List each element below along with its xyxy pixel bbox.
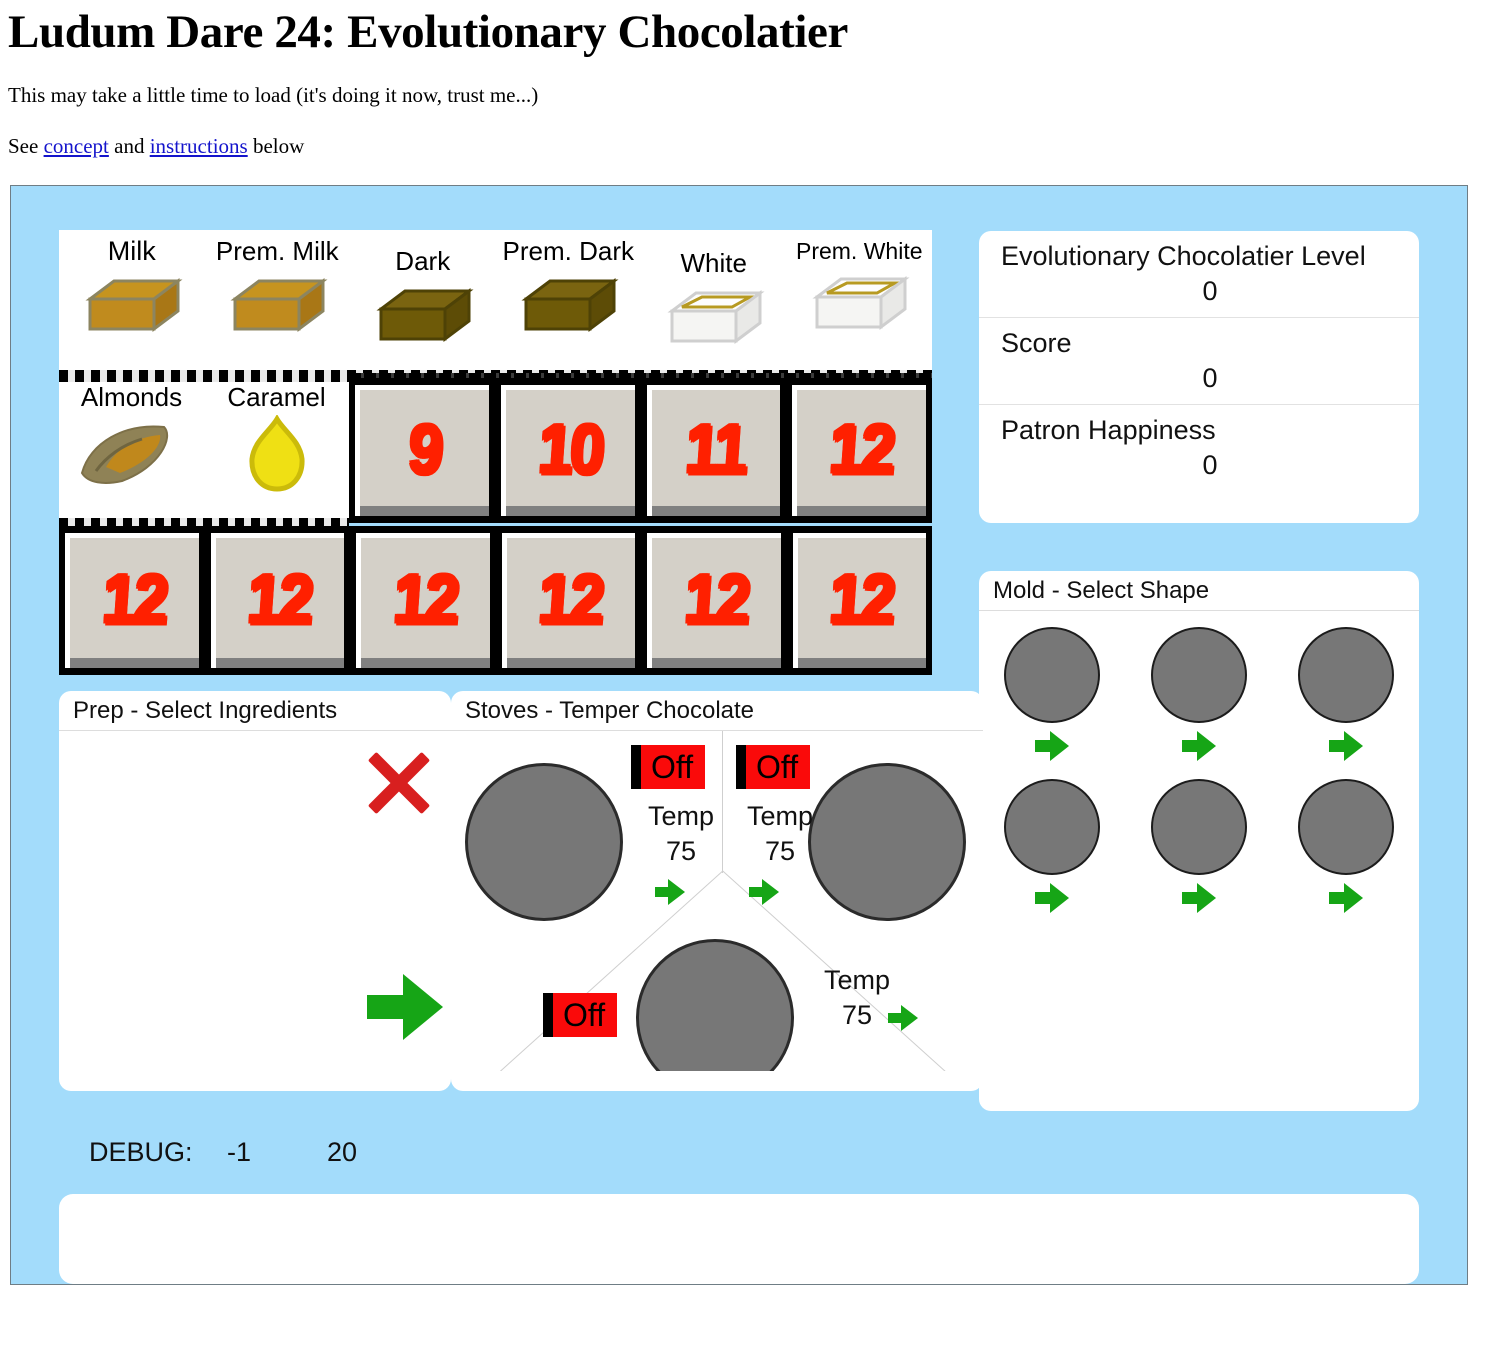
instructions-link[interactable]: instructions <box>150 134 248 158</box>
stove-temp-readout-1: Temp 75 <box>633 799 729 868</box>
stove-increase-temp-1[interactable] <box>655 879 685 910</box>
x-clear-icon[interactable] <box>363 747 435 819</box>
prep-confirm-button[interactable] <box>367 974 443 1045</box>
chocolate-tile[interactable]: 12 <box>356 533 490 668</box>
stove-power-label: Off <box>746 745 810 789</box>
chocolate-tile[interactable]: 12 <box>211 533 345 668</box>
chocolate-option-prem-dark[interactable]: Prem. Dark <box>496 230 642 375</box>
chocolate-tile[interactable]: 11 <box>647 385 781 516</box>
green-arrow-icon <box>655 879 685 905</box>
chocolate-tile[interactable]: 12 <box>793 533 927 668</box>
green-arrow-icon <box>367 974 443 1040</box>
chocolate-tile[interactable]: 10 <box>501 385 635 516</box>
stoves-panel: Stoves - Temper Chocolate Off Temp 75 <box>451 691 983 1091</box>
temp-value: 75 <box>732 834 828 869</box>
stove-power-toggle-1[interactable]: Off <box>631 745 705 789</box>
stove-burner-1[interactable] <box>465 763 623 921</box>
stove-power-toggle-2[interactable]: Off <box>736 745 810 789</box>
chocolate-label: Prem. Dark <box>503 236 634 267</box>
chocolate-label: Prem. White <box>796 238 923 265</box>
addin-option-caramel[interactable]: Caramel <box>204 378 349 523</box>
page-title: Ludum Dare 24: Evolutionary Chocolatier <box>8 8 1500 57</box>
chocolate-label: White <box>681 248 747 279</box>
debug-readout: DEBUG:-120 <box>59 1106 357 1199</box>
page-header: Ludum Dare 24: Evolutionary Chocolatier … <box>0 8 1500 159</box>
almond-icon <box>76 415 188 489</box>
stoves-panel-title: Stoves - Temper Chocolate <box>451 691 983 731</box>
green-arrow-icon <box>749 879 779 905</box>
addin-group: Almonds Caramel <box>59 378 349 523</box>
temp-label: Temp <box>633 799 729 834</box>
chocolate-option-white[interactable]: White <box>641 230 787 375</box>
game-app-container: Milk Prem. Milk Dark <box>10 185 1468 1285</box>
tile-number: 10 <box>536 411 605 491</box>
tile-number: 12 <box>391 561 460 641</box>
temp-label: Temp <box>732 799 828 834</box>
tiles-row-bottom: 12 12 12 12 12 12 <box>59 526 932 675</box>
tile-number: 9 <box>406 411 443 491</box>
white-chocolate-cube-icon <box>662 283 766 353</box>
green-arrow-icon[interactable] <box>1035 883 1069 913</box>
tile-number: 12 <box>245 561 314 641</box>
loading-note: This may take a little time to load (it'… <box>8 83 1500 108</box>
addin-label: Caramel <box>227 382 325 413</box>
concept-link[interactable]: concept <box>44 134 109 158</box>
stove-increase-temp-3[interactable] <box>888 1005 918 1036</box>
tile-strip-middle: 9 10 11 12 <box>349 378 932 523</box>
debug-label: DEBUG: <box>89 1137 227 1168</box>
prep-body <box>59 731 451 1071</box>
stove-increase-temp-2[interactable] <box>749 879 779 910</box>
dark-chocolate-cube-icon <box>371 281 475 351</box>
stat-label: Evolutionary Chocolatier Level <box>1001 241 1419 272</box>
stat-value: 0 <box>1001 446 1419 481</box>
stoves-body: Off Temp 75 Off Temp 75 <box>451 731 983 1071</box>
stat-row-score: Score 0 <box>979 318 1419 405</box>
stove-temp-readout-2: Temp 75 <box>732 799 828 868</box>
premium-dark-chocolate-cube-icon <box>516 271 620 341</box>
addin-divider-top <box>59 373 349 382</box>
chocolate-tile[interactable]: 12 <box>502 533 636 668</box>
ingredient-board: Milk Prem. Milk Dark <box>59 230 932 675</box>
green-arrow-icon[interactable] <box>1329 883 1363 913</box>
green-arrow-icon <box>888 1005 918 1031</box>
addin-label: Almonds <box>81 382 182 413</box>
stat-row-happiness: Patron Happiness 0 <box>979 405 1419 491</box>
green-arrow-icon[interactable] <box>1182 883 1216 913</box>
mold-shape-circle[interactable] <box>1298 627 1394 723</box>
tile-number: 12 <box>682 561 751 641</box>
mold-shape-circle[interactable] <box>1151 627 1247 723</box>
chocolate-tile[interactable]: 9 <box>355 385 489 516</box>
tile-number: 12 <box>100 561 169 641</box>
message-log-panel <box>59 1194 1419 1284</box>
addins-and-tiles-row: Almonds Caramel <box>59 378 932 523</box>
addin-option-almonds[interactable]: Almonds <box>59 378 204 523</box>
stat-value: 0 <box>1001 359 1419 394</box>
chocolate-option-prem-milk[interactable]: Prem. Milk <box>205 230 351 375</box>
debug-value-2: 20 <box>327 1137 357 1168</box>
power-indicator-bar <box>736 745 746 789</box>
green-arrow-icon[interactable] <box>1182 731 1216 761</box>
tile-number: 12 <box>827 411 896 491</box>
mold-shape-circle[interactable] <box>1151 779 1247 875</box>
milk-chocolate-cube-icon <box>80 271 184 341</box>
see-suffix: below <box>248 134 305 158</box>
mold-arrow-row-1 <box>979 731 1419 761</box>
chocolate-tile[interactable]: 12 <box>647 533 781 668</box>
stats-panel: Evolutionary Chocolatier Level 0 Score 0… <box>979 231 1419 523</box>
see-prefix: See <box>8 134 44 158</box>
link-join: and <box>109 134 150 158</box>
power-indicator-bar <box>631 745 641 789</box>
stove-burner-2[interactable] <box>808 763 966 921</box>
mold-shape-row-1 <box>979 627 1419 723</box>
stove-power-label: Off <box>553 993 617 1037</box>
chocolate-option-dark[interactable]: Dark <box>350 230 496 375</box>
mold-panel-title: Mold - Select Shape <box>979 571 1419 611</box>
mold-panel: Mold - Select Shape <box>979 571 1419 1111</box>
stat-label: Patron Happiness <box>1001 415 1419 446</box>
premium-milk-chocolate-cube-icon <box>225 271 329 341</box>
stove-power-toggle-3[interactable]: Off <box>543 993 617 1037</box>
tile-number: 12 <box>827 561 896 641</box>
chocolate-tile[interactable]: 12 <box>65 533 199 668</box>
prep-panel-title: Prep - Select Ingredients <box>59 691 451 731</box>
chocolate-tile[interactable]: 12 <box>792 385 926 516</box>
mold-shape-circle[interactable] <box>1004 779 1100 875</box>
chocolate-option-prem-white[interactable]: Prem. White <box>787 230 933 375</box>
chocolate-type-row: Milk Prem. Milk Dark <box>59 230 932 375</box>
chocolate-label: Milk <box>108 236 156 267</box>
tile-number: 11 <box>683 411 748 491</box>
mold-shape-row-2 <box>979 779 1419 875</box>
green-arrow-icon[interactable] <box>1035 731 1069 761</box>
chocolate-label: Dark <box>395 246 450 277</box>
temp-value: 75 <box>633 834 729 869</box>
green-arrow-icon[interactable] <box>1329 731 1363 761</box>
chocolate-option-milk[interactable]: Milk <box>59 230 205 375</box>
see-links-line: See concept and instructions below <box>8 134 1500 159</box>
stove-burner-3[interactable] <box>636 939 794 1071</box>
mold-shape-grid <box>979 611 1419 913</box>
stat-value: 0 <box>1001 272 1419 307</box>
prep-panel: Prep - Select Ingredients <box>59 691 451 1091</box>
chocolate-label: Prem. Milk <box>216 236 339 267</box>
mold-shape-circle[interactable] <box>1004 627 1100 723</box>
stove-power-label: Off <box>641 745 705 789</box>
mold-arrow-row-2 <box>979 883 1419 913</box>
stat-row-level: Evolutionary Chocolatier Level 0 <box>979 231 1419 318</box>
tile-number: 12 <box>536 561 605 641</box>
tile-strip-bottom: 12 12 12 12 12 12 <box>59 526 932 675</box>
premium-white-chocolate-cube-icon <box>807 269 911 339</box>
caramel-icon <box>240 415 314 495</box>
temp-label: Temp <box>809 963 905 998</box>
power-indicator-bar <box>543 993 553 1037</box>
mold-shape-circle[interactable] <box>1298 779 1394 875</box>
debug-value-1: -1 <box>227 1137 327 1168</box>
stat-label: Score <box>1001 328 1419 359</box>
